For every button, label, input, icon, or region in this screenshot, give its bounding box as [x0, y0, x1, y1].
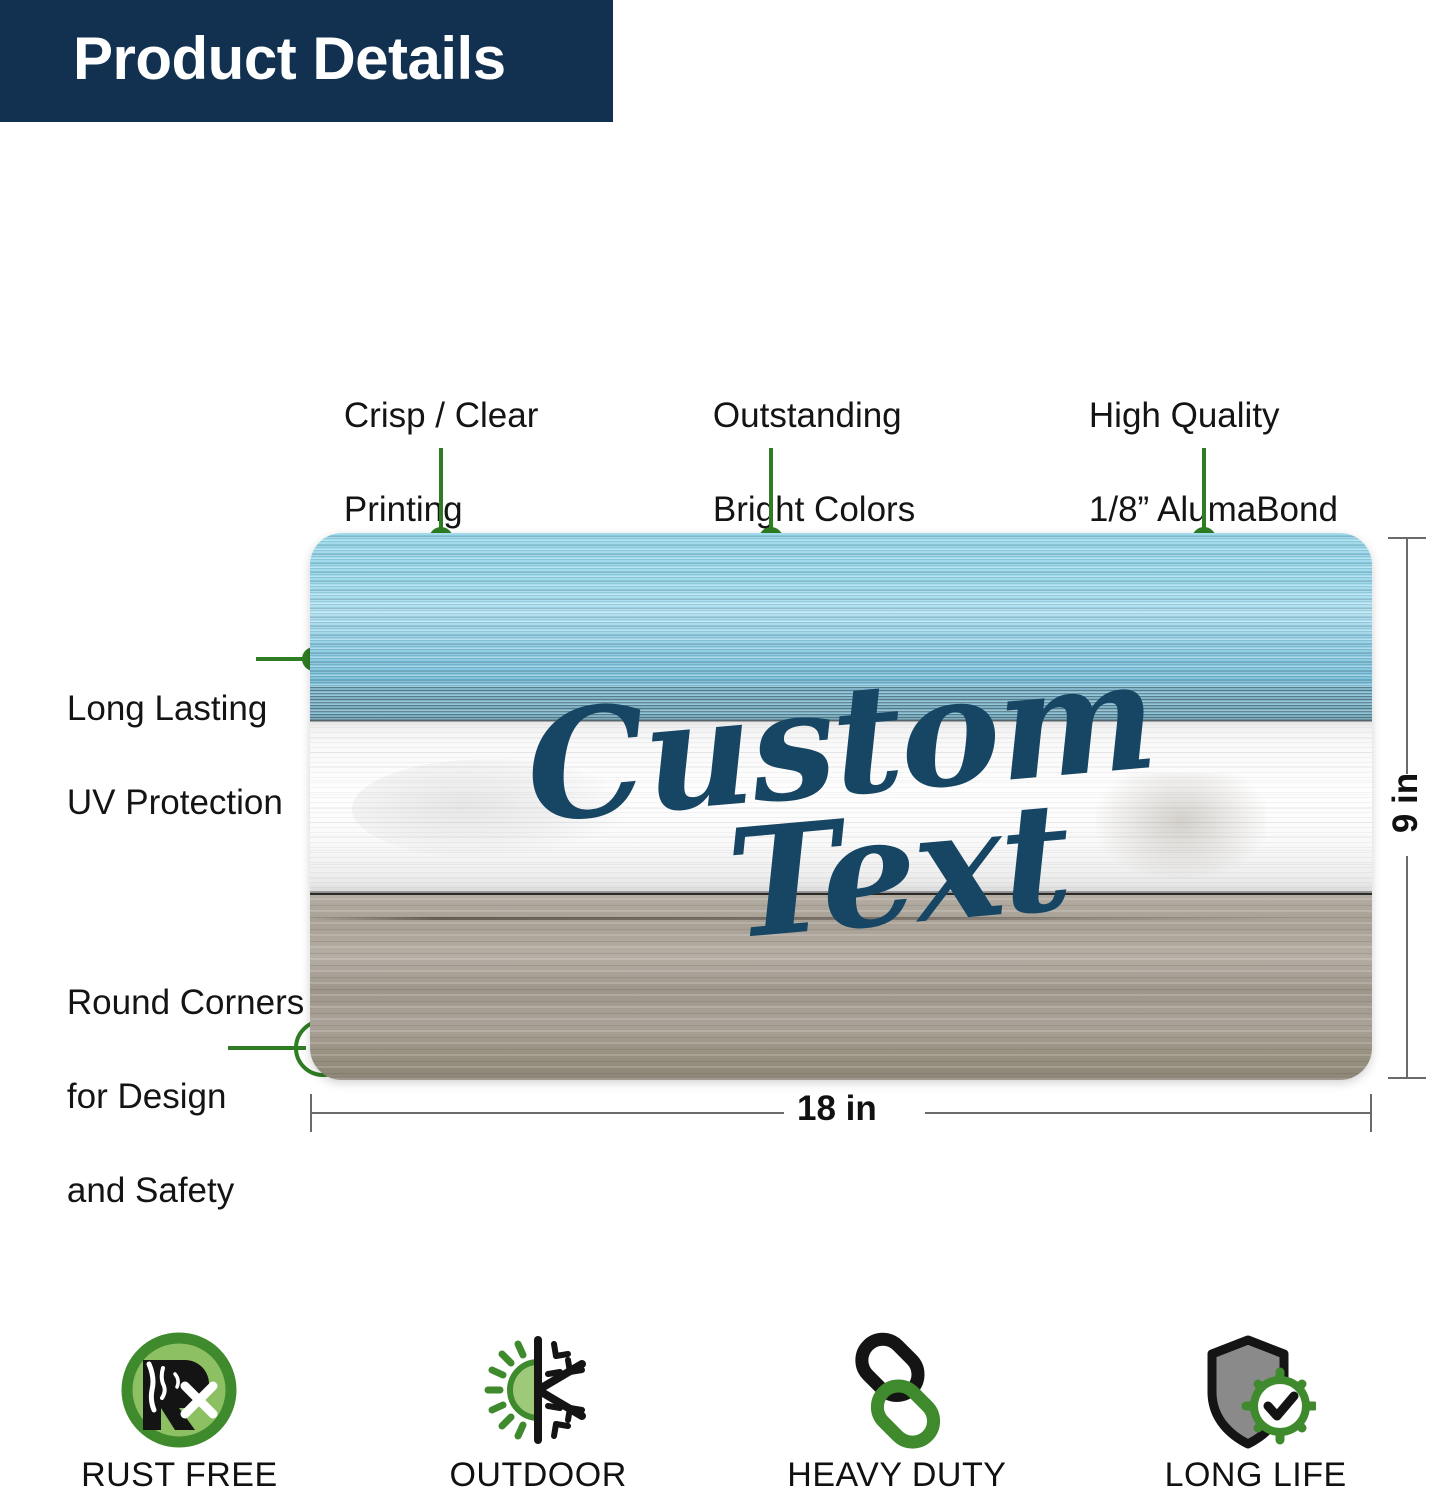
dimension-cap-bottom [1388, 1077, 1426, 1079]
callout-line-1: Crisp / Clear [344, 396, 538, 435]
wood-plank-white [310, 721, 1372, 893]
page-title: Product Details [73, 22, 506, 96]
feature-outdoor: OUTDOOR [388, 1330, 688, 1495]
dimension-line-height-upper [1406, 538, 1408, 774]
plank-seam-lower [310, 891, 1372, 894]
dimension-line-width-left [311, 1112, 784, 1114]
dimension-label-height: 9 in [1386, 768, 1426, 838]
dimension-label-width: 18 in [797, 1089, 877, 1129]
callout-line-2: Bright Colors [713, 490, 915, 529]
callout-line-2: 1/8” AlumaBond [1089, 490, 1338, 529]
shield-clock-icon [1196, 1330, 1316, 1450]
callout-label-long-lasting-uv-protection: Long Lasting UV Protection [28, 638, 283, 873]
rust-free-icon [119, 1330, 239, 1450]
plank-seam-upper [310, 719, 1372, 722]
chain-link-icon [837, 1330, 957, 1450]
header-banner: Product Details [0, 0, 613, 122]
feature-long-life: LONG LIFE [1106, 1330, 1406, 1495]
dimension-cap-right [1370, 1094, 1372, 1132]
product-details-infographic: Product Details Crisp / Clear Printing O… [0, 0, 1435, 1500]
callout-line-1: Long Lasting [67, 689, 267, 728]
dimension-line-height-lower [1406, 856, 1408, 1078]
callout-line-1: Outstanding [713, 396, 902, 435]
callout-line-1: High Quality [1089, 396, 1280, 435]
callout-label-round-corners: Round Corners for Design and Safety [28, 932, 304, 1261]
callout-line-1: Round Corners [67, 983, 304, 1022]
wood-plank-blue [310, 533, 1372, 721]
feature-heavy-duty: HEAVY DUTY [747, 1330, 1047, 1495]
feature-label-heavy-duty: HEAVY DUTY [787, 1456, 1006, 1495]
callout-line-2: UV Protection [67, 783, 283, 822]
dimension-cap-left [310, 1094, 312, 1132]
sign-product-image: Custom Text [310, 533, 1372, 1080]
dimension-cap-top [1388, 537, 1426, 539]
feature-badges-row: RUST FREE [0, 1330, 1435, 1500]
feature-label-outdoor: OUTDOOR [449, 1456, 626, 1495]
wood-plank-gray [310, 893, 1372, 1080]
callout-line-2: for Design [67, 1077, 227, 1116]
callout-line-3: and Safety [67, 1171, 234, 1210]
sun-snowflake-icon [478, 1330, 598, 1450]
feature-label-long-life: LONG LIFE [1165, 1456, 1347, 1495]
callout-line-2: Printing [344, 490, 463, 529]
feature-rust-free: RUST FREE [29, 1330, 329, 1495]
dimension-line-width-right [925, 1112, 1371, 1114]
feature-label-rust-free: RUST FREE [81, 1456, 278, 1495]
